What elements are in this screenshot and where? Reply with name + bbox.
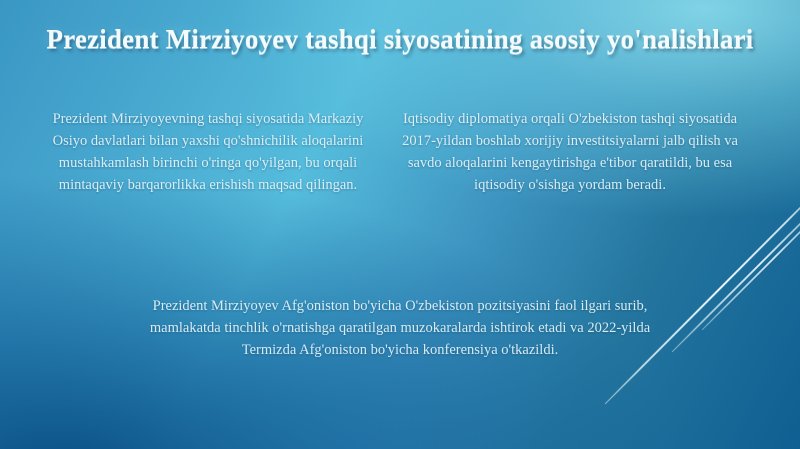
text-block-afghanistan-policy: Prezident Mirziyoyev Afg'oniston bo'yich… (136, 295, 664, 361)
text-block-economic-diplomacy: Iqtisodiy diplomatiya orqali O'zbekiston… (400, 108, 740, 196)
diagonal-streak-lines (0, 0, 800, 449)
slide-title: Prezident Mirziyoyev tashqi siyosatining… (0, 24, 800, 55)
streak-line-2 (672, 206, 800, 352)
text-block-central-asia-relations: Prezident Mirziyoyevning tashqi siyosati… (42, 108, 374, 196)
presentation-slide: Prezident Mirziyoyev tashqi siyosatining… (0, 0, 800, 449)
streak-line-3 (702, 210, 800, 330)
